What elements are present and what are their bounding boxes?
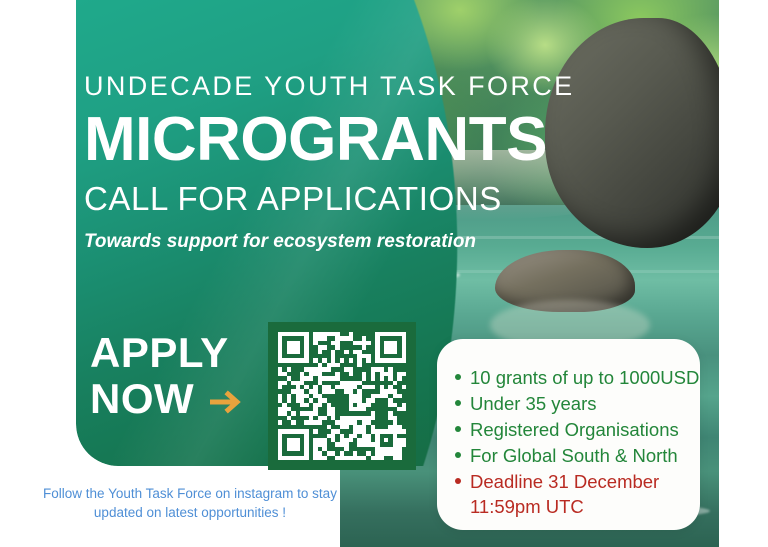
apply-line-1: APPLY	[90, 330, 244, 376]
tagline-text: Towards support for ecosystem restoratio…	[84, 229, 554, 255]
bullet-dot-icon	[455, 478, 461, 484]
subtitle-text: CALL FOR APPLICATIONS	[84, 179, 554, 219]
list-item-label: 10 grants of up to 1000USD	[470, 365, 699, 390]
list-item: Registered Organisations	[455, 417, 686, 442]
page-title: MICROGRANTS	[84, 106, 554, 174]
qr-code-icon[interactable]	[268, 322, 416, 470]
headline-block: UNDECADE YOUTH TASK FORCE MICROGRANTS CA…	[84, 70, 554, 255]
list-item-label: Deadline 31 December 11:59pm UTC	[470, 469, 686, 519]
instagram-follow-note: Follow the Youth Task Force on instagram…	[40, 484, 340, 522]
apply-line-2: NOW	[90, 376, 194, 422]
list-item-label: Under 35 years	[470, 391, 596, 416]
list-item: Under 35 years	[455, 391, 686, 416]
list-item-label: Registered Organisations	[470, 417, 679, 442]
bullet-dot-icon	[455, 452, 461, 458]
apply-line-2-row: NOW	[90, 376, 244, 422]
criteria-list: 10 grants of up to 1000USDUnder 35 years…	[437, 339, 700, 519]
bullet-dot-icon	[455, 426, 461, 432]
bullet-dot-icon	[455, 400, 461, 406]
eyebrow-text: UNDECADE YOUTH TASK FORCE	[84, 70, 554, 102]
list-item: Deadline 31 December 11:59pm UTC	[455, 469, 686, 519]
list-item-label: For Global South & North	[470, 443, 678, 468]
qr-modules	[278, 332, 406, 460]
list-item: For Global South & North	[455, 443, 686, 468]
apply-now-cta[interactable]: APPLY NOW	[90, 330, 244, 422]
list-item: 10 grants of up to 1000USD	[455, 365, 686, 390]
bullet-dot-icon	[455, 374, 461, 380]
criteria-card: 10 grants of up to 1000USDUnder 35 years…	[437, 339, 700, 530]
poster-canvas: UNDECADE YOUTH TASK FORCE MICROGRANTS CA…	[0, 0, 768, 547]
arrow-right-icon	[210, 389, 244, 415]
